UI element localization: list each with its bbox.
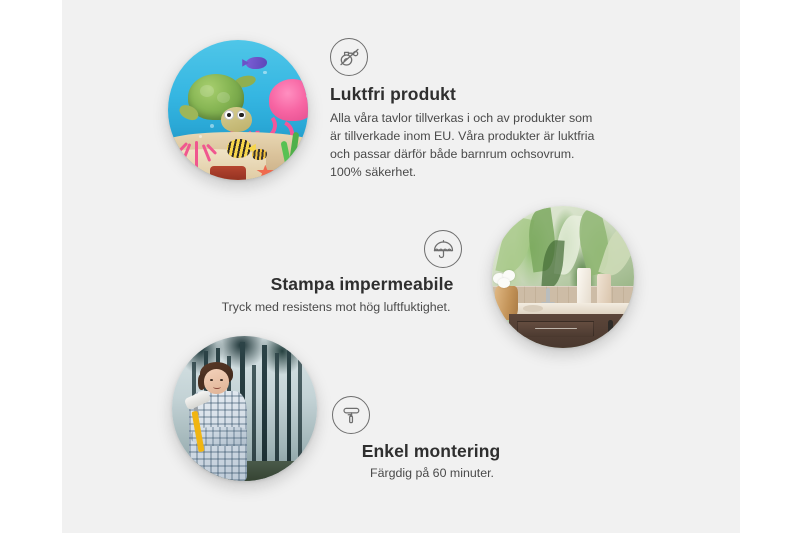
cabinet-handle [627,320,632,342]
underwater-artwork [168,40,308,180]
tropical-bathroom-image [492,206,634,348]
umbrella-icon [424,230,462,268]
octopus-eye [306,94,308,98]
octopus [269,79,308,121]
forest-artwork [172,336,317,481]
treasure-chest [210,166,246,180]
vanity-cabinet [509,314,634,348]
turtle-eye [237,110,247,120]
feature-title: Luktfri produkt [330,84,620,105]
feature-odour-free: Luktfri produkt Alla våra tavlor tillver… [330,38,620,181]
coral [179,130,215,169]
cabinet-drawer [517,321,594,337]
feature-description: Tryck med resistens mot hög luftfuktighe… [210,298,462,316]
woman-with-paint-roller-image [172,336,317,481]
underwater-cartoon-image [168,40,308,180]
product-feature-graphic: Luktfri produkt Alla våra tavlor tillver… [0,0,800,533]
feature-title: Enkel montering [332,441,592,462]
feature-easy-mounting: Enkel montering Färgdig på 60 minuter. [332,396,592,482]
turtle-eye [224,110,234,120]
paint-roller-icon [332,396,370,434]
cabinet-handle [608,320,613,342]
feature-description: Alla våra tavlor tillverkas i och av pro… [330,109,602,181]
feature-title: Stampa impermeabile [210,274,462,295]
no-fragrance-icon [330,38,368,76]
white-flowers [492,268,523,291]
bathroom-artwork [492,206,634,348]
butterflyfish [227,139,251,157]
feature-waterproof: Stampa impermeabile Tryck med resistens … [210,230,462,316]
woman-face [204,369,229,394]
feature-description: Färgdig på 60 minuter. [332,464,592,482]
